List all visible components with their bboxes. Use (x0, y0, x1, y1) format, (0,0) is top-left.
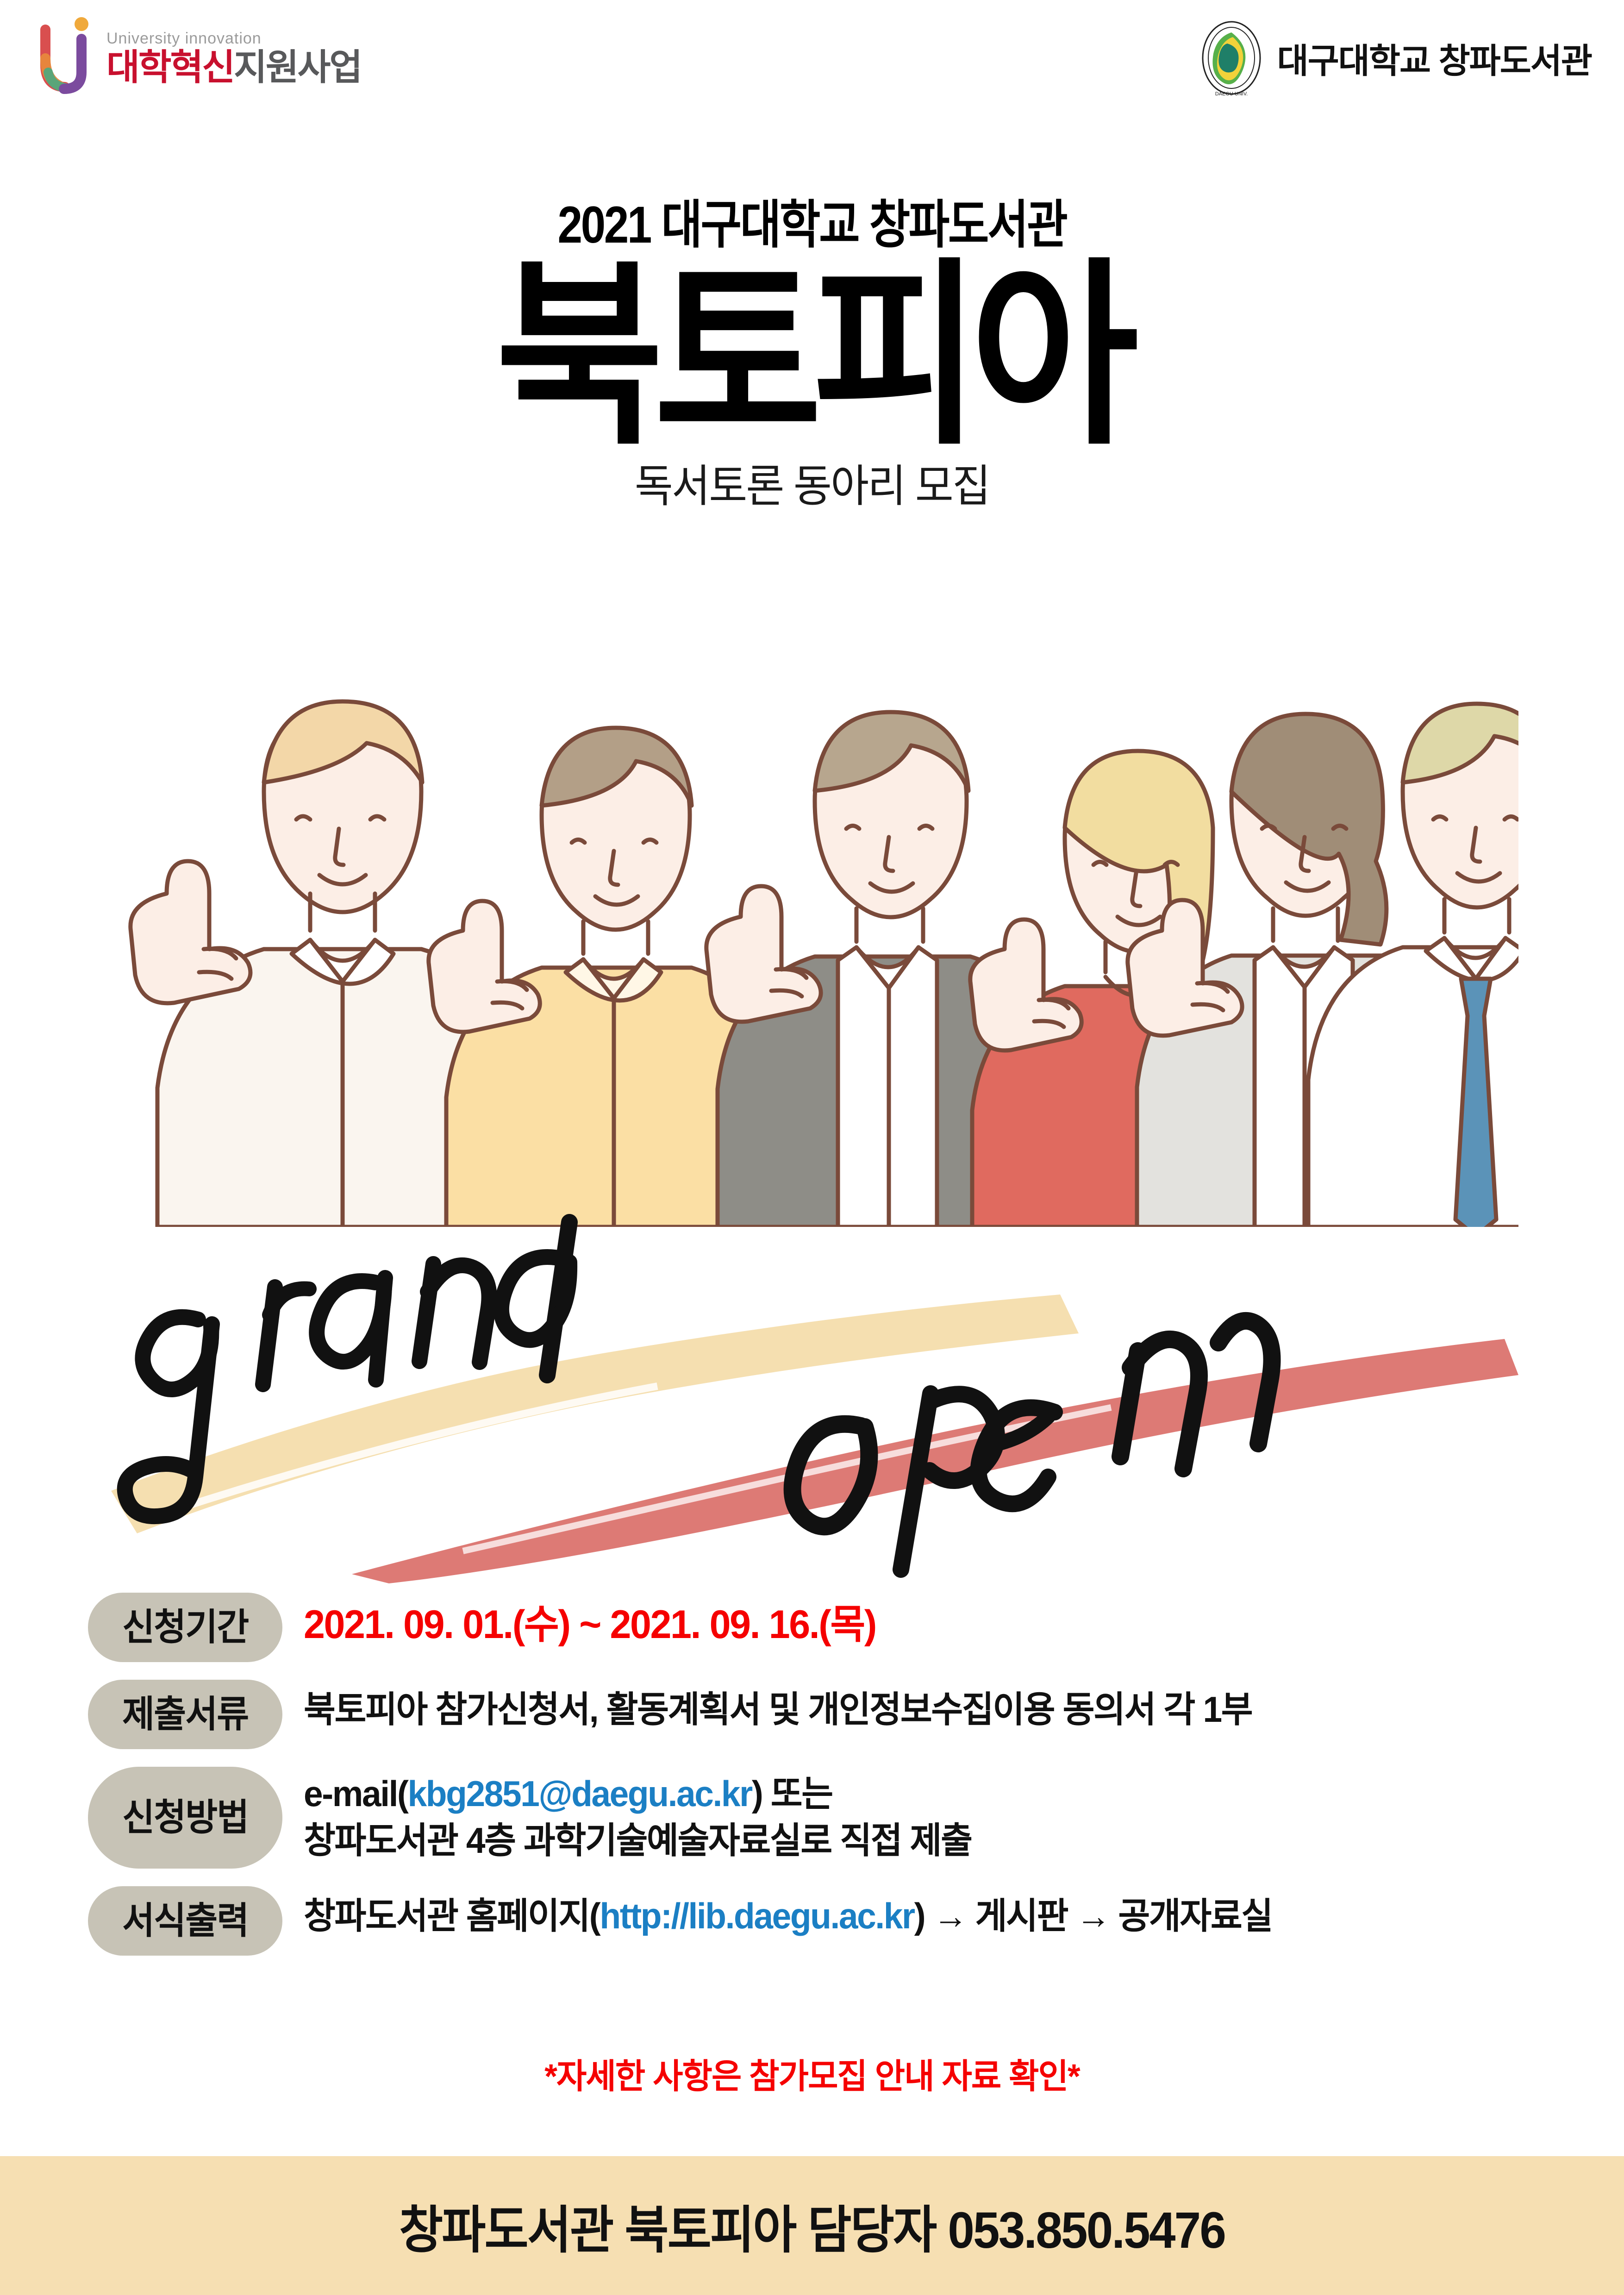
logo-row: University innovation 대학혁신지원사업 DAEGU UNI… (0, 0, 1624, 139)
footer-contact-banner: 창파도서관 북토피아 담당자 053.850.5476 (0, 2156, 1624, 2295)
email-prefix: e-mail( (304, 1773, 408, 1814)
grand-word (125, 1222, 569, 1516)
homepage-prefix: 창파도서관 홈페이지( (304, 1895, 600, 1936)
homepage-path: ) → 게시판 → 공개자료실 (914, 1895, 1272, 1936)
form-download-line: 창파도서관 홈페이지(http://lib.daegu.ac.kr) → 게시판… (304, 1893, 1510, 1939)
page-title: 북토피아 (65, 261, 1559, 452)
application-period-value: 2021. 09. 01.(수) ~ 2021. 09. 16.(목) (304, 1599, 1510, 1651)
daegu-library-label: 대구대학교 창파도서관 (1277, 33, 1592, 83)
info-body-application-method: e-mail(kbg2851@daegu.ac.kr) 또는 창파도서관 4층 … (304, 1767, 1560, 1864)
info-body-form-download: 창파도서관 홈페이지(http://lib.daegu.ac.kr) → 게시판… (304, 1886, 1560, 1939)
info-body-required-documents: 북토피아 참가신청서, 활동계획서 및 개인정보수집이용 동의서 각 1부 (304, 1680, 1560, 1733)
logo-english-label: University innovation (106, 31, 361, 46)
info-row-application-period: 신청기간 2021. 09. 01.(수) ~ 2021. 09. 16.(목) (88, 1593, 1560, 1662)
poster-canvas: University innovation 대학혁신지원사업 DAEGU UNI… (0, 0, 1624, 2295)
pill-label: 신청방법 (122, 1799, 248, 1836)
title-subtitle: 독서토론 동아리 모집 (49, 464, 1575, 509)
pill-label: 제출서류 (122, 1696, 248, 1733)
info-section: 신청기간 2021. 09. 01.(수) ~ 2021. 09. 16.(목)… (88, 1593, 1560, 1973)
footer-contact-text: 창파도서관 북토피아 담당자 053.850.5476 (399, 2189, 1225, 2263)
daegu-university-emblem-icon: DAEGU UNIV. (1197, 19, 1266, 97)
library-homepage-link[interactable]: http://lib.daegu.ac.kr (600, 1895, 914, 1936)
info-row-form-download: 서식출력 창파도서관 홈페이지(http://lib.daegu.ac.kr) … (88, 1886, 1560, 1956)
svg-text:DAEGU UNIV.: DAEGU UNIV. (1215, 91, 1248, 97)
grand-open-artwork (93, 1167, 1551, 1583)
label-pill-required-documents: 제출서류 (88, 1680, 282, 1749)
pill-label: 신청기간 (122, 1609, 248, 1646)
info-body-application-period: 2021. 09. 01.(수) ~ 2021. 09. 16.(목) (304, 1593, 1560, 1651)
label-pill-application-period: 신청기간 (88, 1593, 282, 1662)
logo-korean-red: 대학혁신 (106, 47, 234, 88)
title-eyebrow: 2021 대구대학교 창파도서관 (114, 199, 1511, 251)
detail-note: *자세한 사항은 참가모집 안내 자료 확인* (32, 2049, 1592, 2098)
people-illustration (111, 597, 1518, 1227)
title-block: 2021 대구대학교 창파도서관 북토피아 독서토론 동아리 모집 (0, 199, 1624, 509)
application-method-line-2: 창파도서관 4층 과학기술예술자료실로 직접 제출 (304, 1817, 1510, 1864)
email-address-link[interactable]: kbg2851@daegu.ac.kr (408, 1773, 752, 1814)
logo-korean-gray: 지원사업 (234, 47, 361, 88)
email-suffix: ) 또는 (752, 1773, 832, 1814)
pill-label: 서식출력 (122, 1902, 248, 1939)
info-row-required-documents: 제출서류 북토피아 참가신청서, 활동계획서 및 개인정보수집이용 동의서 각 … (88, 1680, 1560, 1749)
daegu-library-logo: DAEGU UNIV. 대구대학교 창파도서관 (1197, 19, 1592, 97)
university-innovation-logo: University innovation 대학혁신지원사업 (37, 14, 361, 102)
application-method-line-1: e-mail(kbg2851@daegu.ac.kr) 또는 (304, 1770, 1510, 1817)
logo-korean-label: 대학혁신지원사업 (106, 49, 361, 85)
label-pill-form-download: 서식출력 (88, 1886, 282, 1956)
label-pill-application-method: 신청방법 (88, 1767, 282, 1869)
university-innovation-text: University innovation 대학혁신지원사업 (106, 31, 361, 85)
uj-mark-icon (37, 14, 98, 102)
info-row-application-method: 신청방법 e-mail(kbg2851@daegu.ac.kr) 또는 창파도서… (88, 1767, 1560, 1869)
required-documents-value: 북토피아 참가신청서, 활동계획서 및 개인정보수집이용 동의서 각 1부 (304, 1686, 1510, 1733)
